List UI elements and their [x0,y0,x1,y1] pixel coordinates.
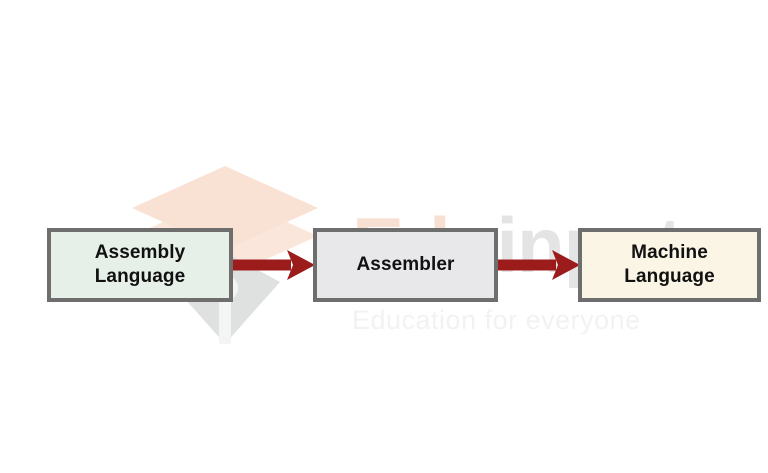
node-assembly-language-label: Assembly Language [95,241,186,290]
watermark-tagline: Education for everyone [352,305,641,336]
diagram-canvas: Eduinput Education for everyone Assembly… [0,0,768,473]
node-machine-language-label: Machine Language [624,241,715,290]
node-assembler-label: Assembler [356,253,454,277]
node-assembly-language: Assembly Language [47,228,233,302]
arrow-assembler-to-machine [494,247,582,283]
arrow-assembly-to-assembler [229,247,317,283]
node-assembler: Assembler [313,228,498,302]
node-machine-language: Machine Language [578,228,761,302]
